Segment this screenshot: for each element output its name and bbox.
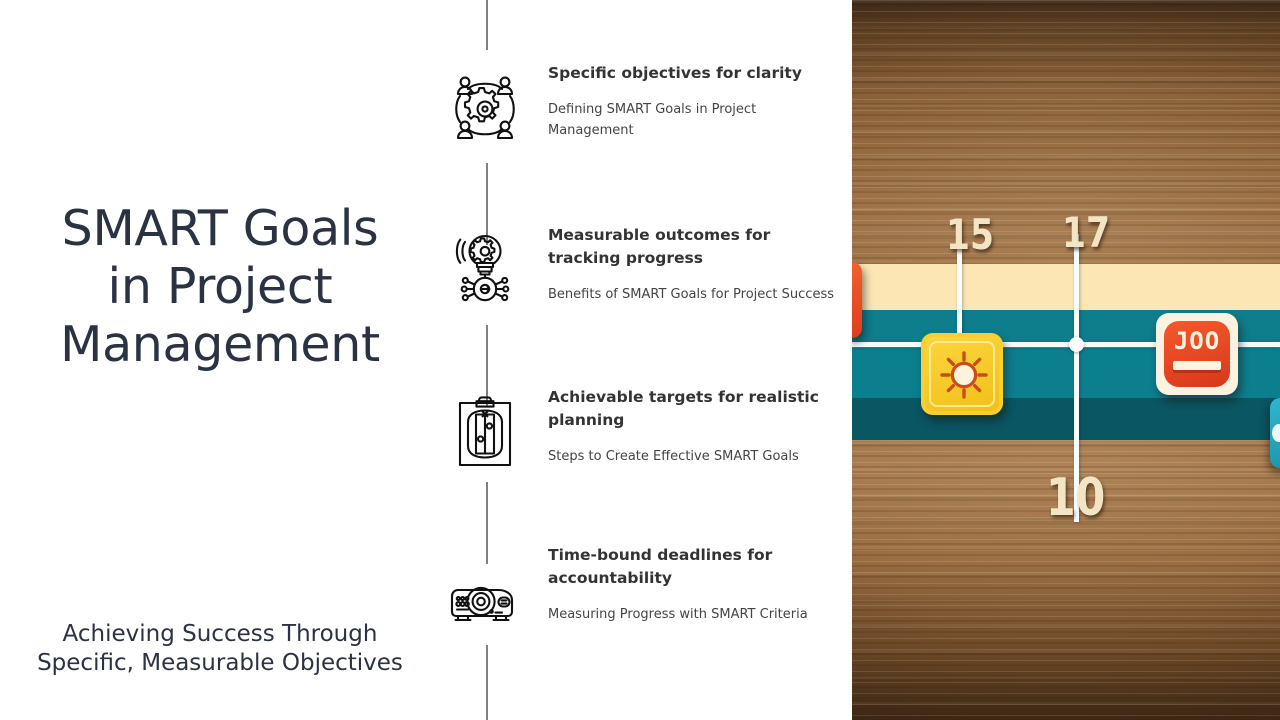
page-title: SMART Goals in Project Management	[20, 200, 420, 374]
list-item-text: Measurable outcomes for tracking progres…	[548, 224, 844, 305]
page-title-line-3: Management	[20, 316, 420, 374]
page-subtitle-line-2: Specific, Measurable Objectives	[14, 649, 426, 678]
list-item-body: Steps to Create Effective SMART Goals	[548, 446, 844, 467]
page-title-line-1: SMART Goals	[20, 200, 420, 258]
timeline-segment-top	[486, 0, 488, 50]
timeline-segment-3	[486, 482, 488, 564]
score-tile-bar	[1173, 361, 1221, 370]
score-tile-glyph: JOO	[1164, 327, 1230, 355]
clipboard-strategy-icon	[446, 394, 524, 472]
list-item-body: Measuring Progress with SMART Criteria	[548, 604, 844, 625]
items-column: Specific objectives for clarity Defining…	[440, 0, 852, 720]
list-item-text: Achievable targets for realistic plannin…	[548, 386, 844, 467]
edge-tile-orange	[852, 262, 862, 338]
list-item-heading: Achievable targets for realistic plannin…	[548, 386, 844, 432]
score-tile: JOO	[1156, 313, 1238, 395]
title-column: SMART Goals in Project Management Achiev…	[0, 0, 440, 720]
list-item-body: Defining SMART Goals in Project Manageme…	[548, 99, 844, 141]
page-subtitle: Achieving Success Through Specific, Meas…	[14, 620, 426, 678]
list-item-text: Time-bound deadlines for accountability …	[548, 544, 844, 625]
list-item-text: Specific objectives for clarity Defining…	[548, 62, 844, 141]
slide-root: SMART Goals in Project Management Achiev…	[0, 0, 1280, 720]
edge-tile-cyan	[1270, 398, 1280, 468]
timeline-segment-bottom	[486, 645, 488, 720]
page-subtitle-line-1: Achieving Success Through	[14, 620, 426, 649]
page-title-line-2: in Project	[20, 258, 420, 316]
projector-icon	[446, 564, 524, 642]
list-item-heading: Specific objectives for clarity	[548, 62, 844, 85]
list-item-body: Benefits of SMART Goals for Project Succ…	[548, 284, 844, 305]
list-item-heading: Measurable outcomes for tracking progres…	[548, 224, 844, 270]
lightbulb-gear-network-icon	[446, 232, 524, 310]
board-number-15: 15	[946, 210, 994, 259]
board-band-teal-dark	[852, 398, 1280, 440]
board-grid-node	[1069, 337, 1084, 352]
sun-icon	[939, 350, 989, 400]
list-item-heading: Time-bound deadlines for accountability	[548, 544, 844, 590]
board-number-17: 17	[1062, 208, 1110, 257]
edge-tile-cyan-glyph	[1272, 424, 1280, 442]
sun-tile	[921, 333, 1003, 415]
score-tile-face: JOO	[1164, 321, 1230, 387]
board-number-10: 10	[1046, 468, 1105, 528]
board-band-cream	[852, 264, 1280, 310]
team-gear-icon	[446, 70, 524, 148]
